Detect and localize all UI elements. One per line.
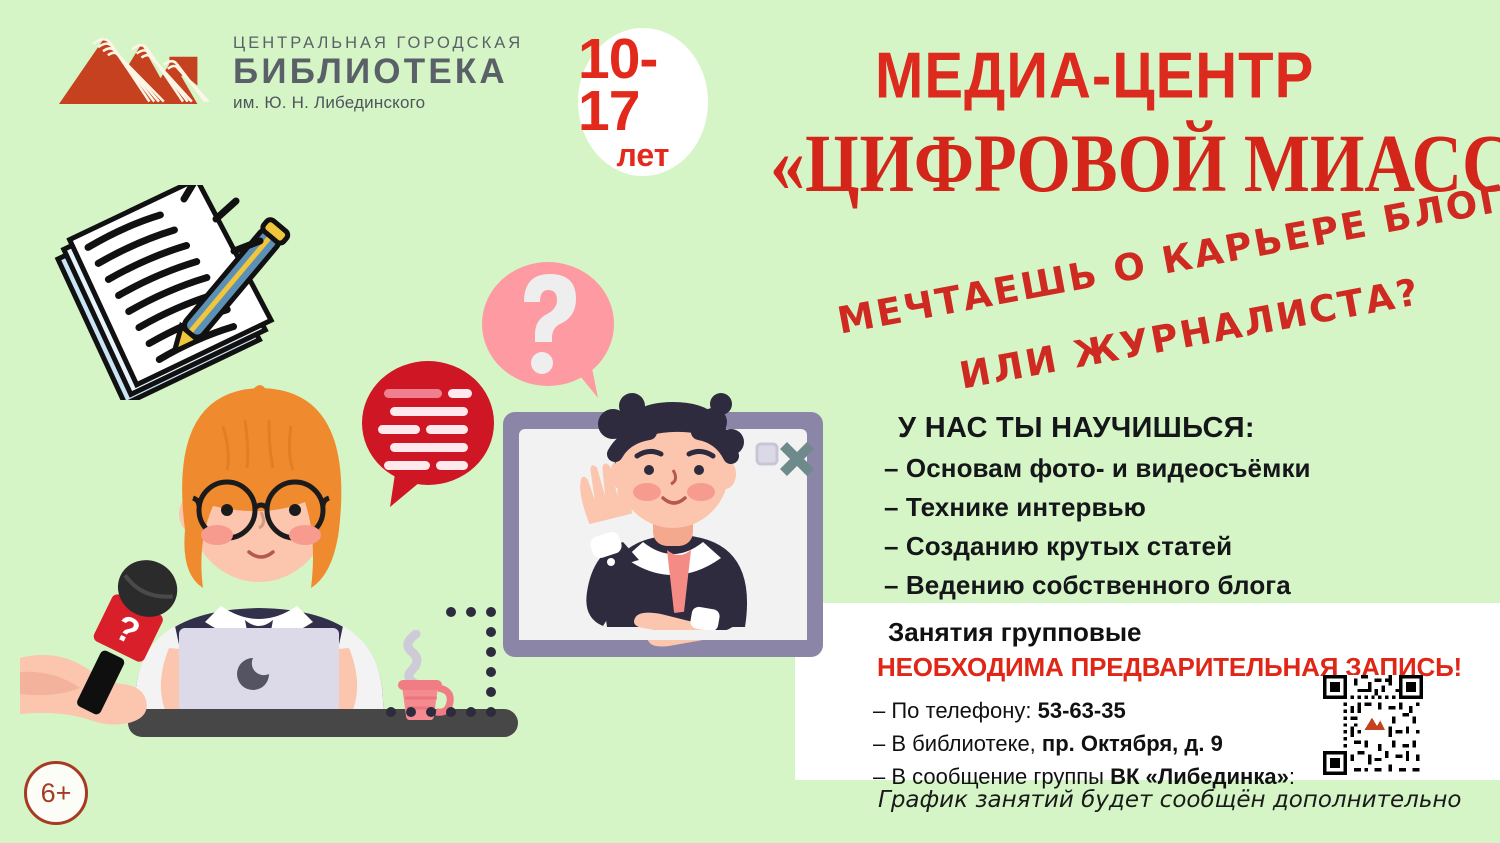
age-range-badge: 10-17 лет xyxy=(578,28,708,176)
learn-list-item: – Технике интервью xyxy=(884,492,1311,523)
poster-canvas: ЦЕНТРАЛЬНАЯ ГОРОДСКАЯ БИБЛИОТЕКА им. Ю. … xyxy=(0,0,1500,843)
contact-item-value: ВК «Либединка» xyxy=(1110,764,1289,789)
age-rating-badge: 6+ xyxy=(24,761,88,825)
learn-list-heading: У НАС ТЫ НАУЧИШЬСЯ: xyxy=(898,412,1311,445)
learn-list-item: – Ведению собственного блога xyxy=(884,570,1311,601)
learn-list-item: – Основам фото- и видеосъёмки xyxy=(884,453,1311,484)
video-call-window-illustration xyxy=(495,392,830,667)
contact-item-value: пр. Октября, д. 9 xyxy=(1042,731,1223,756)
contact-item-phone: – По телефону: 53-63-35 xyxy=(873,698,1126,724)
contact-item-prefix: – В сообщение группы xyxy=(873,764,1110,789)
age-rating-label: 6+ xyxy=(41,778,72,809)
contact-item-prefix: – По телефону: xyxy=(873,698,1038,723)
schedule-note: График занятий будет сообщён дополнитель… xyxy=(878,787,1462,813)
age-range-value: 10-17 xyxy=(578,33,708,138)
logo-line-1: ЦЕНТРАЛЬНАЯ ГОРОДСКАЯ xyxy=(233,34,523,53)
contact-item-address: – В библиотеке, пр. Октября, д. 9 xyxy=(873,731,1223,757)
microphone-with-question-icon: ? xyxy=(20,540,230,745)
dotted-path-decoration xyxy=(385,600,500,725)
maximize-icon xyxy=(757,444,777,464)
poster-title-line-1: МЕДИА-ЦЕНТР xyxy=(875,38,1314,113)
contact-item-value: 53-63-35 xyxy=(1038,698,1126,723)
contact-box: Занятия групповые НЕОБХОДИМА ПРЕДВАРИТЕЛ… xyxy=(795,603,1500,780)
learn-list: У НАС ТЫ НАУЧИШЬСЯ: – Основам фото- и ви… xyxy=(884,412,1311,601)
qr-code[interactable] xyxy=(1323,675,1423,775)
logo-line-3: им. Ю. Н. Либединского xyxy=(233,93,523,113)
notepad-with-pen-icon xyxy=(40,185,305,405)
group-lessons-note: Занятия групповые xyxy=(888,617,1142,648)
library-mountain-books-icon xyxy=(55,28,215,108)
library-logo-text: ЦЕНТРАЛЬНАЯ ГОРОДСКАЯ БИБЛИОТЕКА им. Ю. … xyxy=(233,28,523,113)
learn-list-item: – Созданию крутых статей xyxy=(884,531,1311,562)
pink-question-bubble-icon xyxy=(480,258,620,413)
contact-item-prefix: – В библиотеке, xyxy=(873,731,1042,756)
logo-line-2: БИБЛИОТЕКА xyxy=(233,54,523,91)
library-logo: ЦЕНТРАЛЬНАЯ ГОРОДСКАЯ БИБЛИОТЕКА им. Ю. … xyxy=(55,28,523,113)
contact-item-suffix: : xyxy=(1289,764,1295,789)
age-range-unit: лет xyxy=(617,139,670,171)
